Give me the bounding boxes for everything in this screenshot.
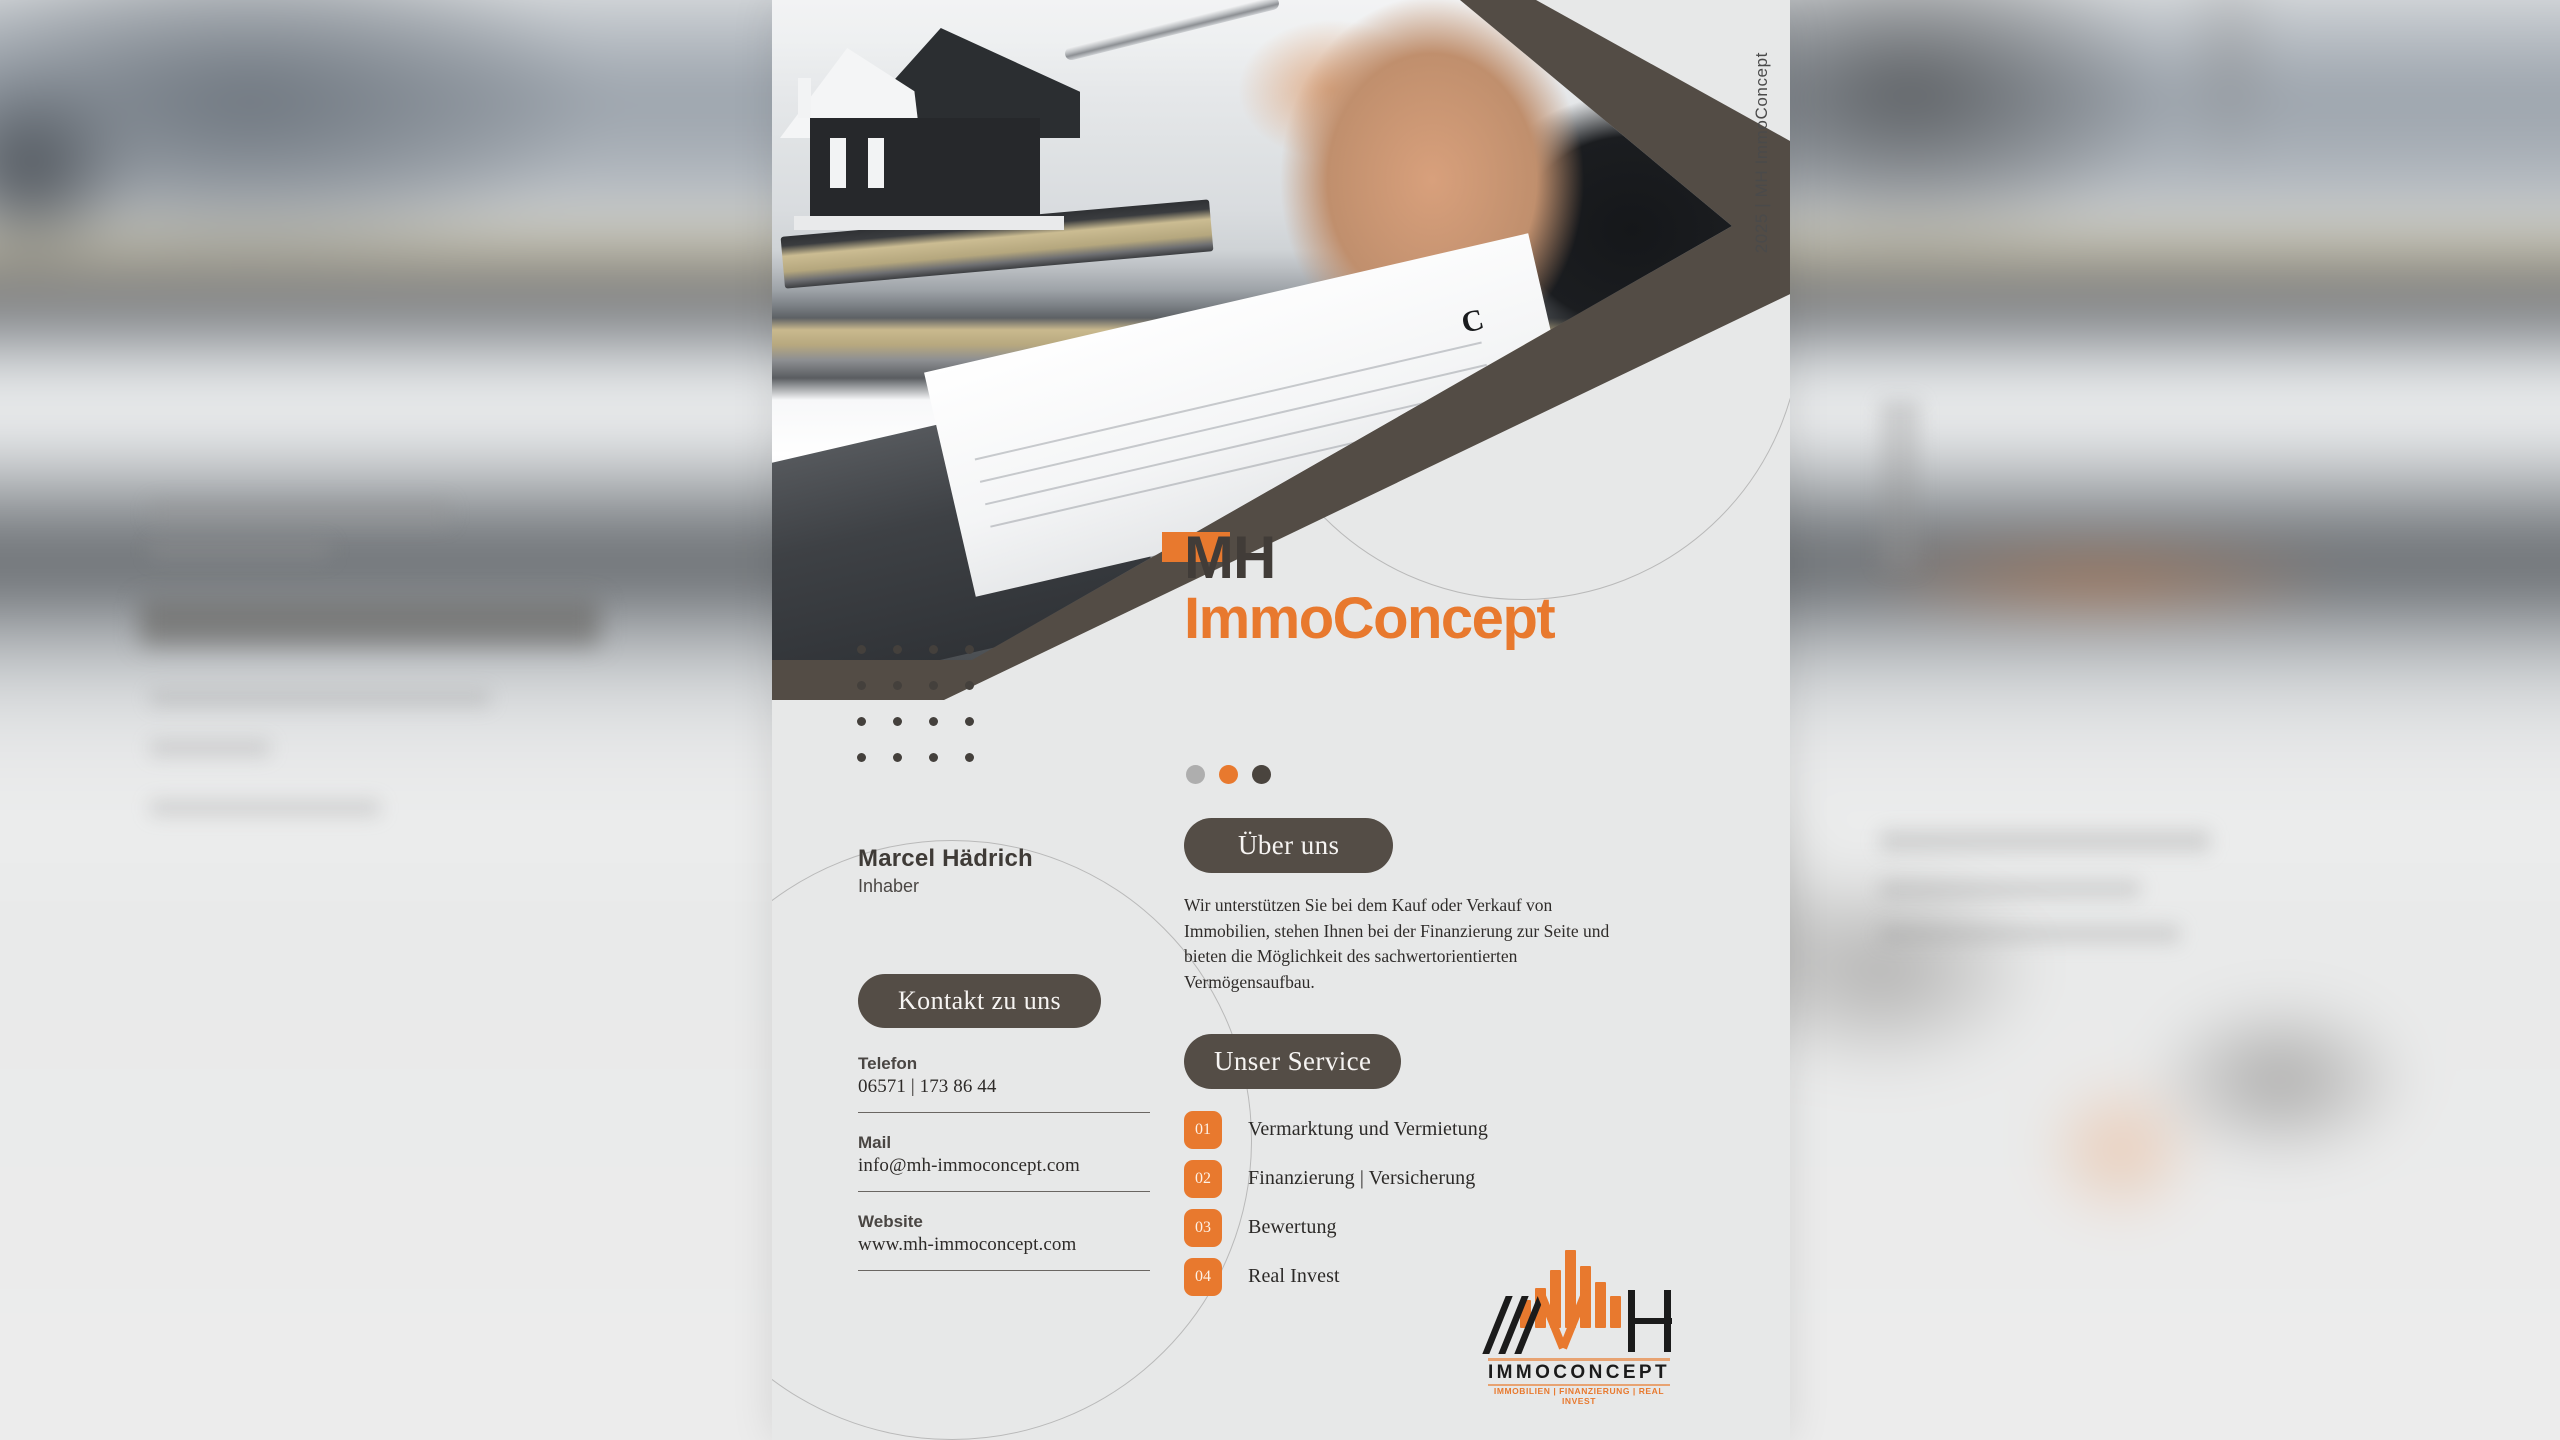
service-item[interactable]: 01 Vermarktung und Vermietung xyxy=(1184,1111,1624,1149)
service-number-badge: 02 xyxy=(1184,1160,1222,1198)
contact-value[interactable]: info@mh-immoconcept.com xyxy=(858,1155,1150,1177)
service-item[interactable]: 02 Finanzierung | Versicherung xyxy=(1184,1160,1624,1198)
contact-value[interactable]: www.mh-immoconcept.com xyxy=(858,1234,1150,1256)
accent-dots xyxy=(1186,765,1271,784)
backdrop-blur-bar xyxy=(150,800,380,816)
emblem-tagline: IMMOBILIEN | FINANZIERUNG | REAL INVEST xyxy=(1484,1386,1674,1406)
contact-heading-pill[interactable]: Kontakt zu uns xyxy=(858,974,1101,1028)
right-column: Über uns Wir unterstützen Sie bei dem Ka… xyxy=(1184,818,1624,1307)
left-column: Marcel Hädrich Inhaber Kontakt zu uns Te… xyxy=(858,845,1150,1271)
emblem-name: IMMOCONCEPT xyxy=(1484,1362,1674,1384)
emblem-rule-top xyxy=(1488,1358,1670,1361)
contact-label: Mail xyxy=(858,1133,1150,1153)
service-label: Finanzierung | Versicherung xyxy=(1248,1167,1475,1190)
backdrop-blur-bar xyxy=(150,540,330,560)
photo-pen xyxy=(1064,0,1281,61)
backdrop-blur-bar xyxy=(1880,880,2140,898)
backdrop-blur-bar xyxy=(1880,400,1920,570)
service-label: Real Invest xyxy=(1248,1265,1340,1288)
contact-item-website[interactable]: Website www.mh-immoconcept.com xyxy=(858,1212,1150,1271)
person-role: Inhaber xyxy=(858,876,1150,897)
contact-value[interactable]: 06571 | 173 86 44 xyxy=(858,1076,1150,1098)
contact-label: Telefon xyxy=(858,1054,1150,1074)
dot-orange xyxy=(1219,765,1238,784)
backdrop-blur-bar xyxy=(1880,830,2210,852)
brand-lockup: MH ImmoConcept xyxy=(1184,528,1554,650)
person-name: Marcel Hädrich xyxy=(858,845,1150,873)
vertical-year-label: 2025 | MH ImmoConcept xyxy=(1752,52,1772,253)
about-heading-pill[interactable]: Über uns xyxy=(1184,818,1393,873)
emblem-logo: IMMOCONCEPT IMMOBILIEN | FINANZIERUNG | … xyxy=(1484,1250,1674,1395)
about-body-text: Wir unterstützen Sie bei dem Kauf oder V… xyxy=(1184,893,1616,996)
backdrop-blur-bar xyxy=(150,740,270,756)
service-number-badge: 03 xyxy=(1184,1209,1222,1247)
dot-dark xyxy=(1252,765,1271,784)
dot-grid-pattern xyxy=(857,645,1001,789)
photo-model-house xyxy=(790,18,1090,248)
brand-name: ImmoConcept xyxy=(1184,588,1554,650)
photo-house-base xyxy=(794,216,1064,230)
poster-card: C 2025 | MH ImmoConcept MH ImmoConcept xyxy=(772,0,1790,1440)
service-label: Vermarktung und Vermietung xyxy=(1248,1118,1488,1141)
service-number-badge: 04 xyxy=(1184,1258,1222,1296)
backdrop-blur-bar xyxy=(140,600,600,646)
contact-item-mail[interactable]: Mail info@mh-immoconcept.com xyxy=(858,1133,1150,1192)
backdrop-blur-bar xyxy=(1880,925,2180,943)
dot-gray xyxy=(1186,765,1205,784)
service-heading-wrap: Unser Service xyxy=(1184,1034,1624,1089)
m-chevron-icon xyxy=(1536,1292,1632,1352)
backdrop-blur-bar xyxy=(150,500,450,526)
contact-label: Website xyxy=(858,1212,1150,1232)
mh-monogram-icon xyxy=(1492,1290,1666,1354)
brand-initials: MH xyxy=(1184,524,1275,591)
contact-item-telefon[interactable]: Telefon 06571 | 173 86 44 xyxy=(858,1054,1150,1113)
backdrop-blur-bar xyxy=(150,690,490,706)
screenshot-stage: C 2025 | MH ImmoConcept MH ImmoConcept xyxy=(0,0,2560,1440)
service-label: Bewertung xyxy=(1248,1216,1337,1239)
service-number-badge: 01 xyxy=(1184,1111,1222,1149)
service-heading-pill[interactable]: Unser Service xyxy=(1184,1034,1401,1089)
service-item[interactable]: 03 Bewertung xyxy=(1184,1209,1624,1247)
contact-list: Telefon 06571 | 173 86 44 Mail info@mh-i… xyxy=(858,1054,1150,1271)
brand-mh-row: MH xyxy=(1184,528,1554,592)
